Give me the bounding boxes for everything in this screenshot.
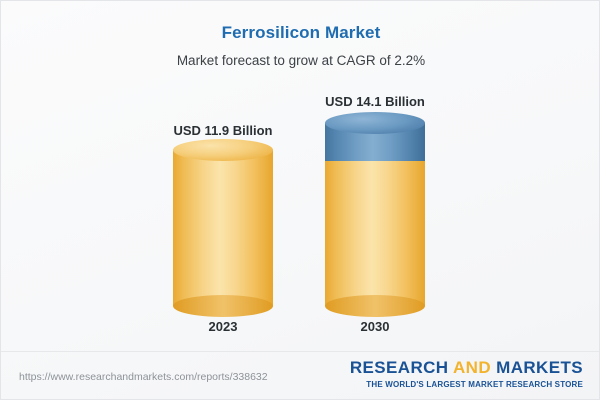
logo-tagline: THE WORLD'S LARGEST MARKET RESEARCH STOR… (350, 380, 583, 389)
logo-word-and: AND (453, 358, 491, 377)
bar-bottom-ellipse (325, 295, 425, 317)
bar-body (325, 161, 425, 306)
bar-value-label-2030: USD 14.1 Billion (275, 94, 475, 109)
bar-cylinder-2030 (325, 123, 431, 306)
brand-logo[interactable]: RESEARCH AND MARKETS THE WORLD'S LARGEST… (350, 359, 583, 389)
bar-chart: USD 11.9 Billion USD 14.1 Billion 2023 2… (1, 1, 600, 400)
bar-top-ellipse (173, 139, 273, 161)
report-url[interactable]: https://www.researchandmarkets.com/repor… (19, 371, 268, 383)
bar-segment-growth (325, 123, 425, 161)
bar-cylinder-2023 (173, 150, 279, 306)
axis-label-2023: 2023 (143, 319, 303, 334)
infographic-card: Ferrosilicon Market Market forecast to g… (0, 0, 600, 400)
logo-word-markets: MARKETS (496, 358, 583, 377)
bar-segment-base (325, 161, 425, 306)
bar-value-label-2023: USD 11.9 Billion (123, 123, 323, 138)
bar-bottom-ellipse (173, 295, 273, 317)
bar-body (173, 150, 273, 306)
axis-label-2030: 2030 (295, 319, 455, 334)
bar-segment-base (173, 150, 273, 306)
footer-divider (1, 351, 600, 352)
bar-top-ellipse (325, 112, 425, 134)
logo-wordmark: RESEARCH AND MARKETS (350, 359, 583, 376)
logo-word-research: RESEARCH (350, 358, 449, 377)
